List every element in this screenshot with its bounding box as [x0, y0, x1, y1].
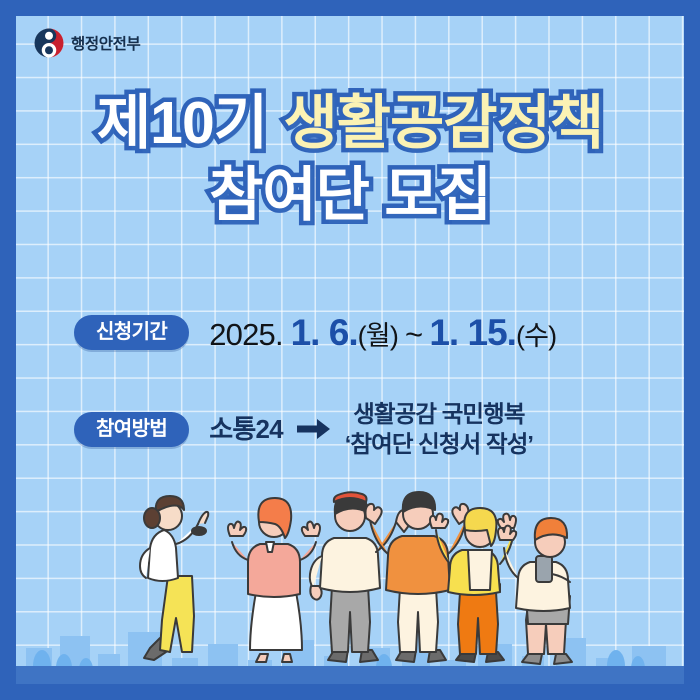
application-period-value: 2025. 1. 6. (월) ~ 1. 15. (수) [209, 314, 556, 351]
application-period-row: 신청기간 2025. 1. 6. (월) ~ 1. 15. (수) [74, 314, 556, 351]
poster-canvas: 행정안전부 제10기 생활공감정책 참여단 모집 신청기간 2025. 1. 6… [16, 16, 684, 684]
headline-term-label: 제10기 [97, 90, 267, 156]
headline-line-2: 참여단 모집 [16, 166, 684, 225]
participation-platform-label: 소통24 [209, 416, 283, 442]
headline-line-1: 제10기 생활공감정책 [16, 94, 684, 153]
headline-program-label: 생활공감정책 [283, 90, 603, 156]
person-man-with-phone [498, 518, 572, 664]
participation-method-row: 참여방법 소통24 생활공감 국민행복 ‘참여단 신청서 작성’ [74, 399, 533, 459]
page-title: 제10기 생활공감정책 참여단 모집 [16, 94, 684, 225]
participation-target-label: 생활공감 국민행복 ‘참여단 신청서 작성’ [345, 399, 533, 459]
ministry-logo: 행정안전부 [34, 28, 140, 58]
participation-method-badge: 참여방법 [74, 412, 189, 447]
period-start-day-label: (월) [358, 323, 398, 350]
korea-government-taegeuk-emblem-icon [34, 28, 64, 58]
person-running-woman [140, 496, 208, 660]
arrow-right-icon [297, 418, 331, 440]
period-end-day-label: (수) [516, 323, 556, 350]
period-separator-label: ~ [405, 319, 422, 350]
headline-recruit-label: 참여단 모집 [209, 162, 491, 228]
period-start-date-label: 1. 6. [291, 314, 358, 351]
people-illustration [16, 454, 684, 684]
people-group-illustration [16, 456, 684, 671]
application-period-badge: 신청기간 [74, 315, 189, 350]
person-woman-pink-sweater [228, 498, 320, 662]
ministry-name-label: 행정안전부 [71, 32, 140, 54]
participation-target-line-1: 생활공감 국민행복 [353, 401, 524, 427]
poster-frame: 행정안전부 제10기 생활공감정책 참여단 모집 신청기간 2025. 1. 6… [0, 0, 700, 700]
period-year-label: 2025. [209, 319, 283, 350]
period-end-date-label: 1. 15. [429, 314, 516, 351]
